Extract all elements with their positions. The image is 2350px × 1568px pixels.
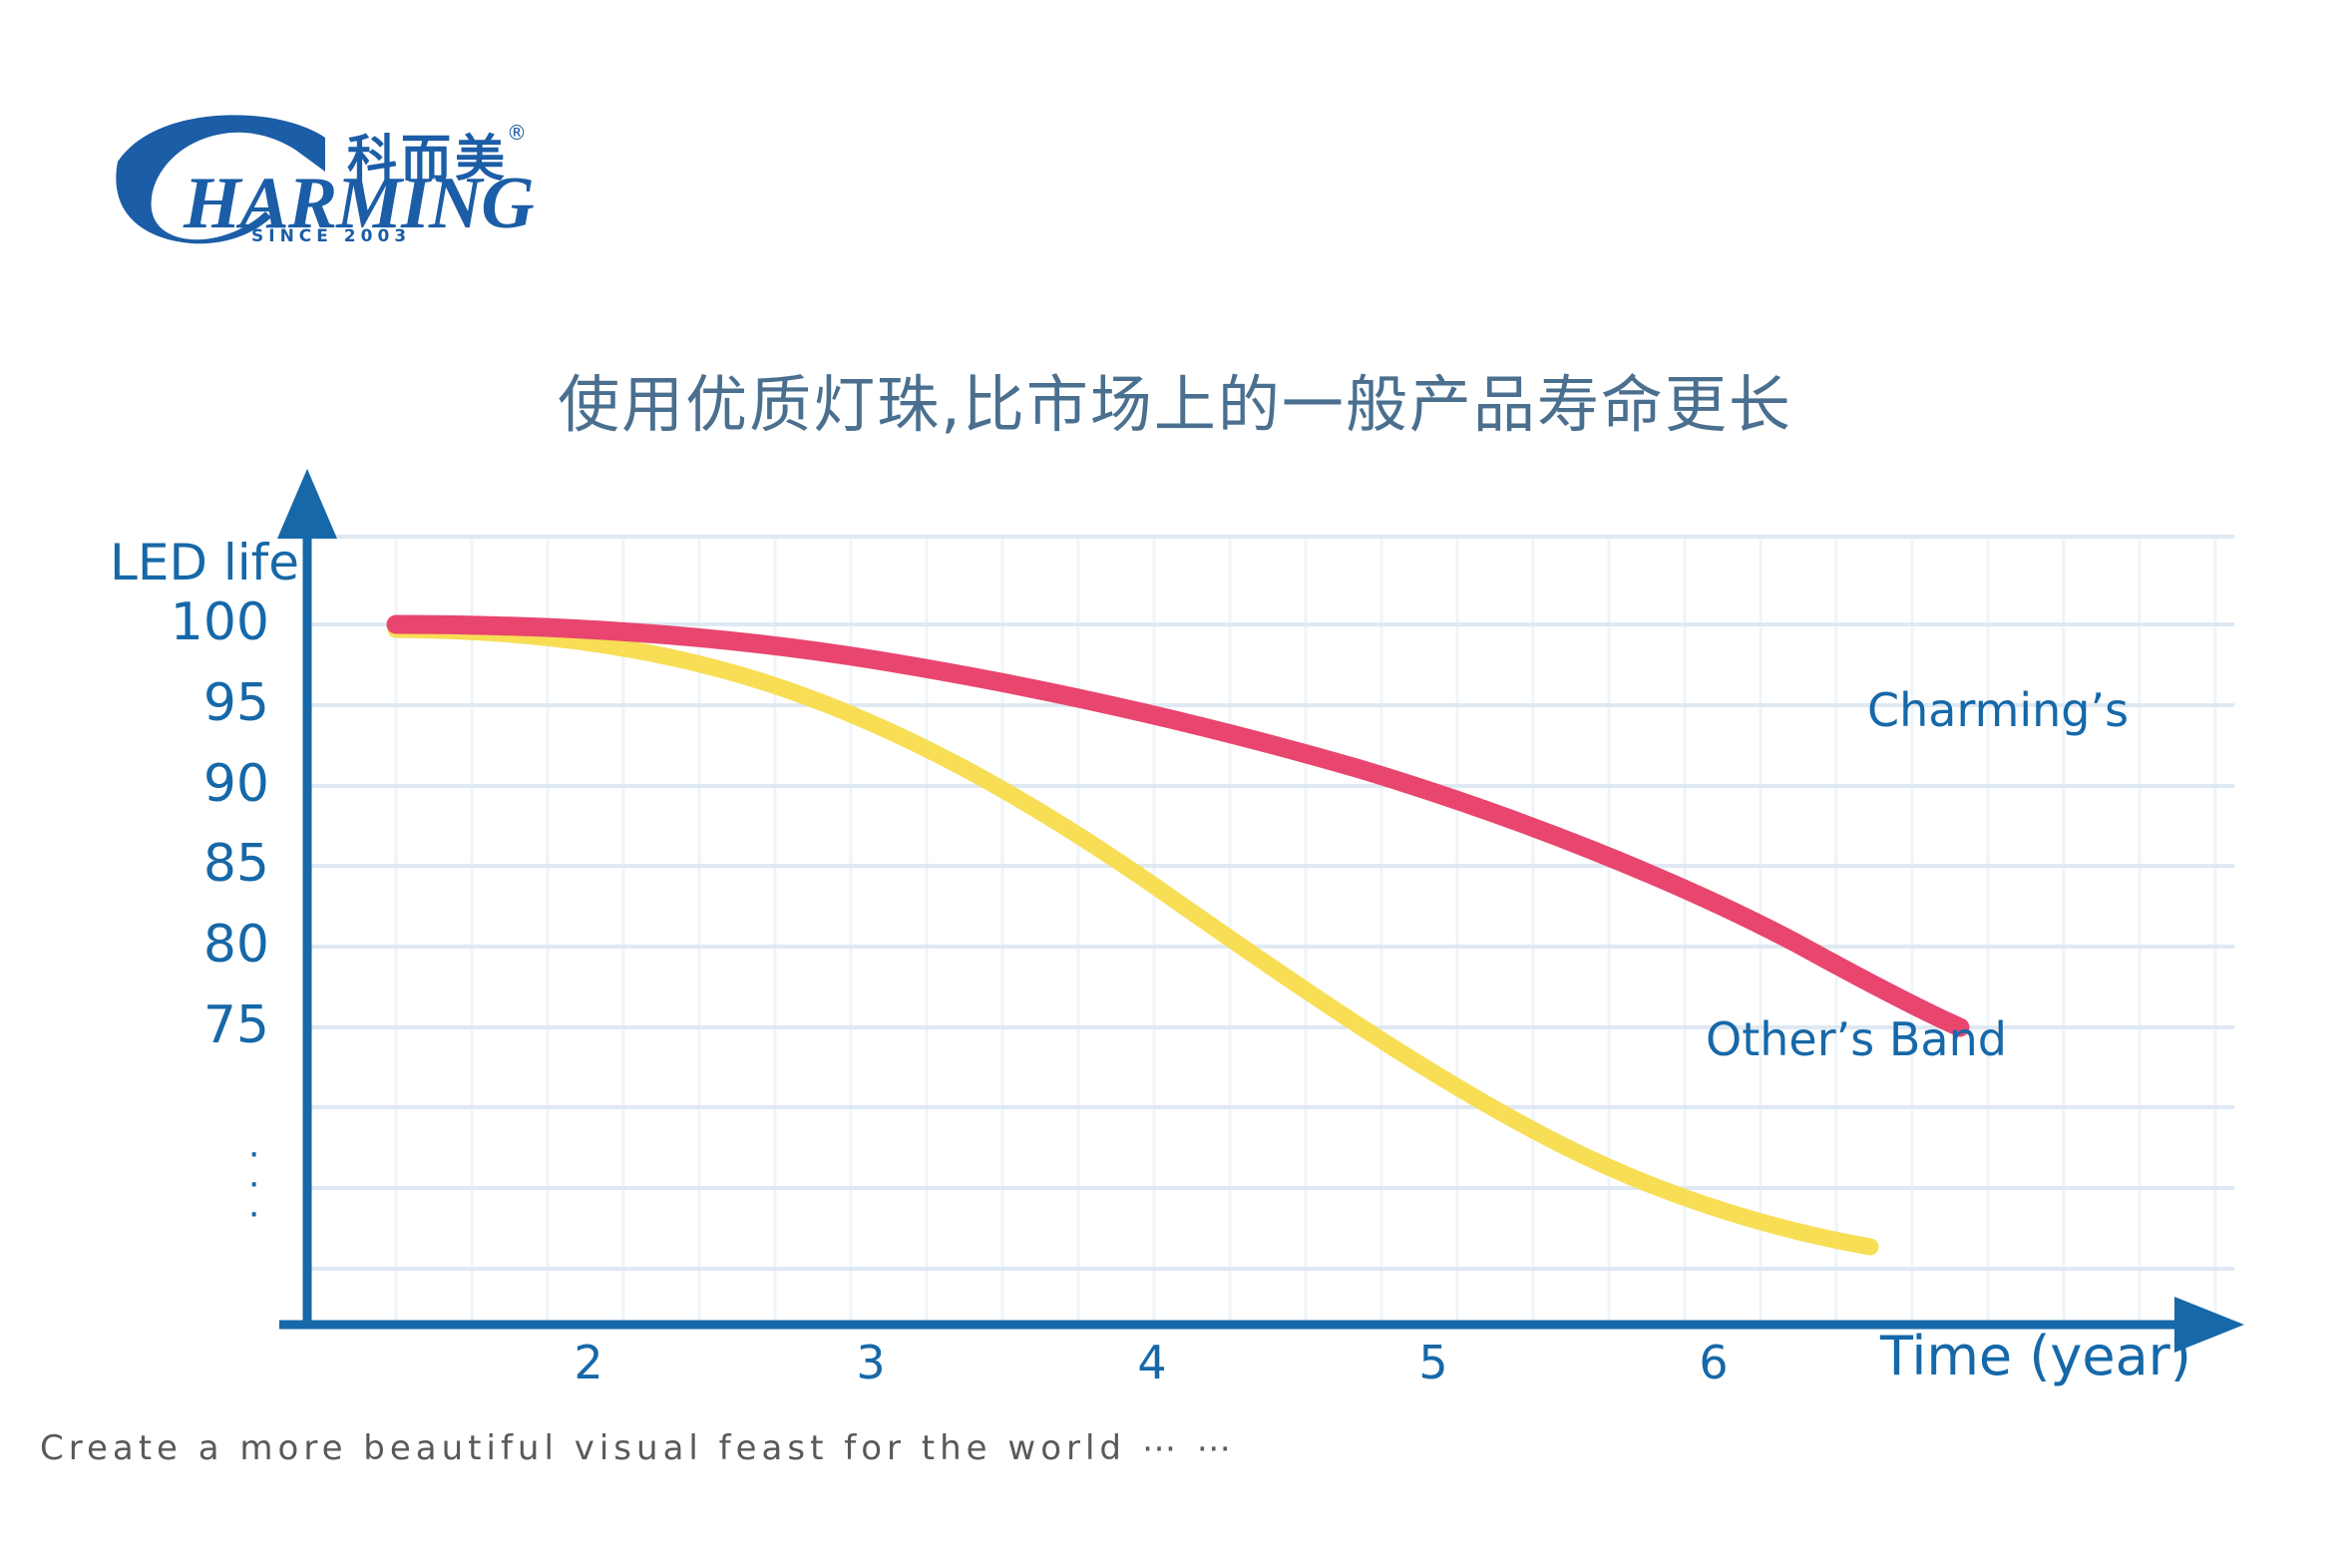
y-tick-80: 80 bbox=[203, 919, 269, 971]
x-tick-3: 3 bbox=[856, 1337, 885, 1388]
y-axis-ellipsis: · · · bbox=[247, 1137, 260, 1227]
x-tick-4: 4 bbox=[1137, 1337, 1166, 1388]
chart-container: LED life 100 95 90 85 80 75 · · · 2 3 4 … bbox=[0, 0, 2350, 1568]
y-tick-labels: 100 95 90 85 80 75 bbox=[0, 0, 287, 1568]
x-tick-6: 6 bbox=[1699, 1337, 1728, 1388]
x-tick-5: 5 bbox=[1418, 1337, 1447, 1388]
x-axis-title: Time (year) bbox=[1880, 1325, 2191, 1387]
series-line-other-band bbox=[396, 629, 1870, 1247]
y-tick-75: 75 bbox=[203, 999, 269, 1051]
y-tick-85: 85 bbox=[203, 838, 269, 890]
y-axis-ellipsis-dot: · bbox=[247, 1197, 260, 1227]
y-tick-95: 95 bbox=[203, 677, 269, 729]
x-tick-2: 2 bbox=[574, 1337, 602, 1388]
footer-tagline: Create a more beautiful visual feast for… bbox=[40, 1428, 1236, 1468]
series-line-charmings bbox=[396, 624, 1960, 1027]
y-tick-100: 100 bbox=[171, 596, 269, 648]
y-tick-90: 90 bbox=[203, 758, 269, 810]
series-label-charmings: Charming’s bbox=[1867, 683, 2129, 737]
series-label-other-band: Other’s Band bbox=[1706, 1012, 2007, 1066]
